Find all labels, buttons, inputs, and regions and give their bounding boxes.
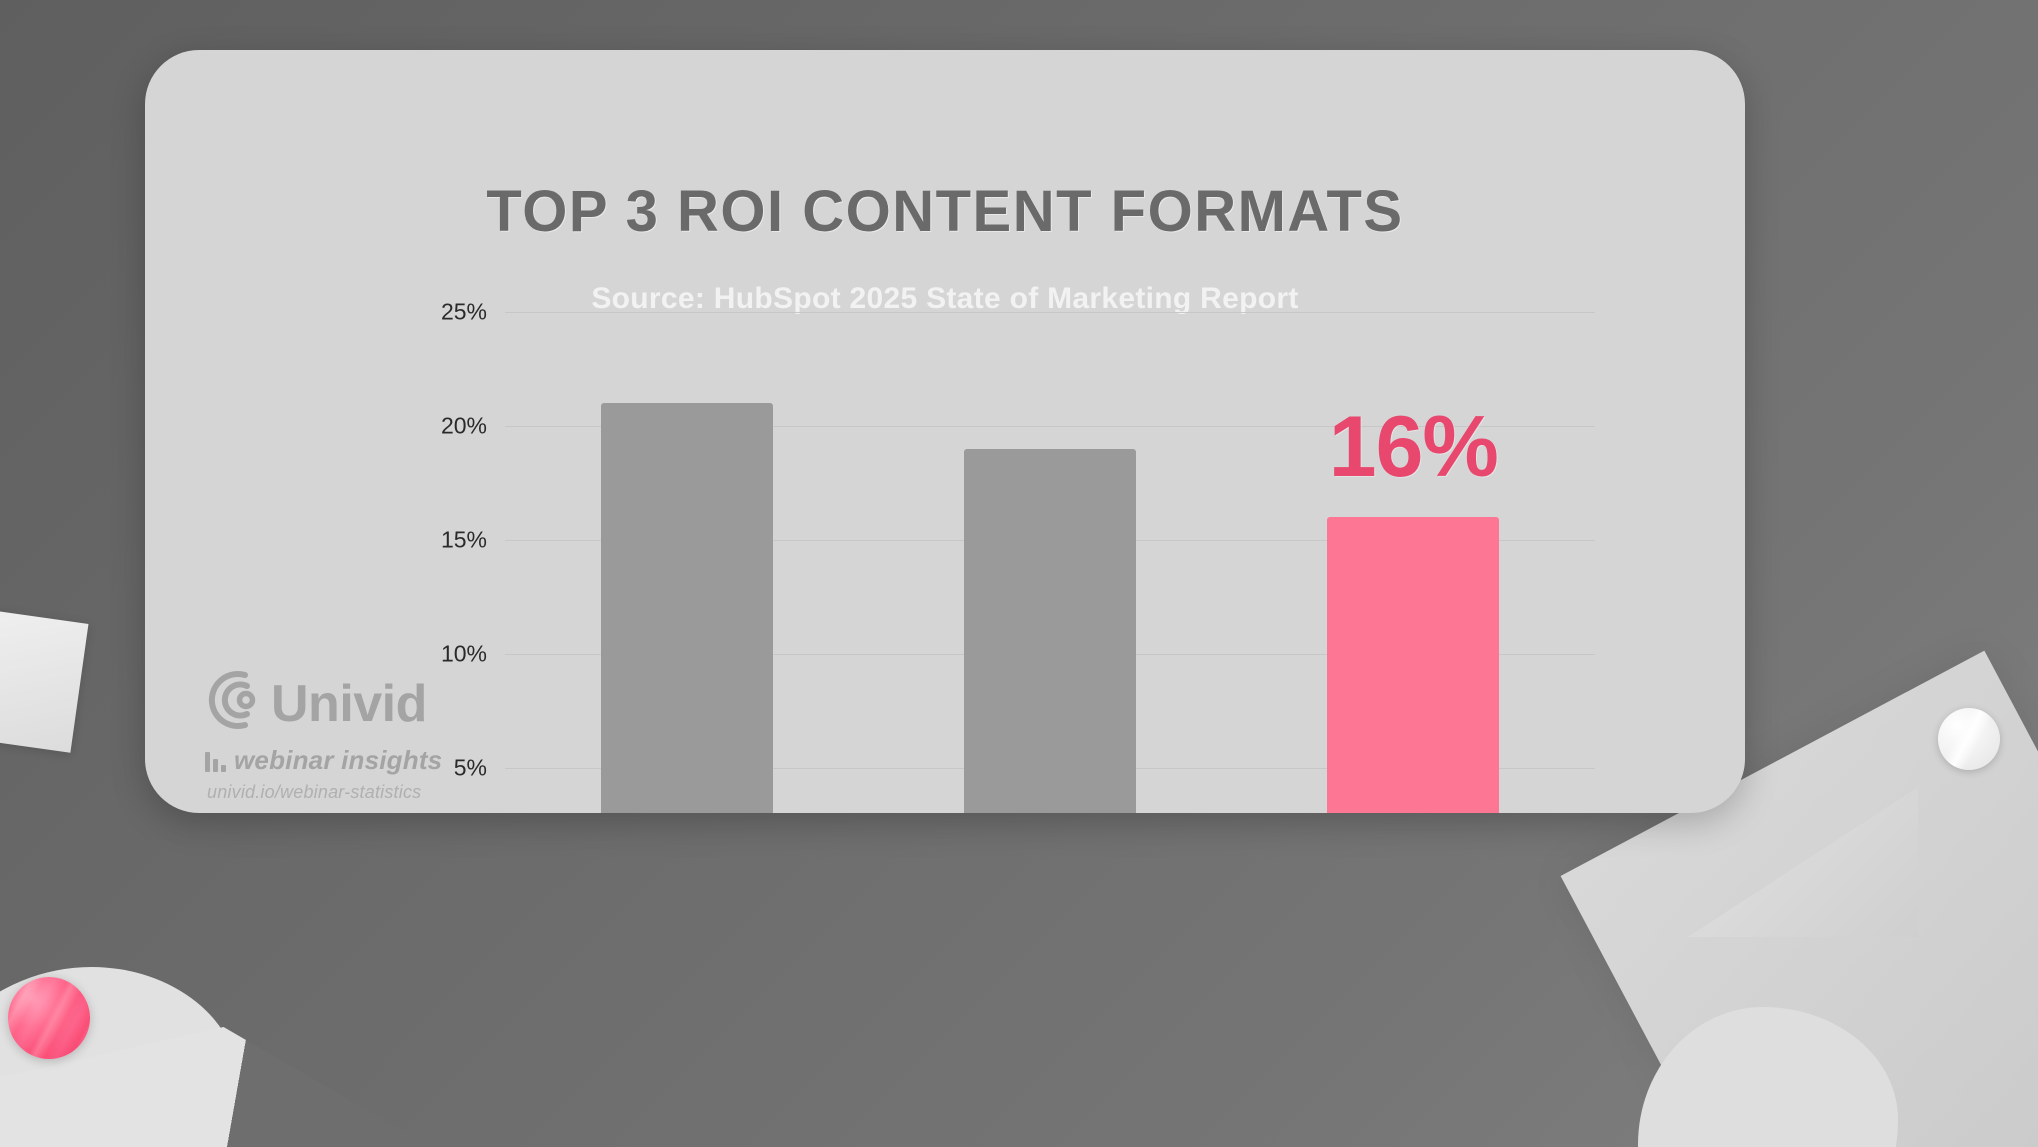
brand-tagline-row: webinar insights [201, 745, 531, 776]
y-axis-tick-label: 25% [441, 299, 487, 326]
brand-name-row: Univid [201, 668, 531, 739]
brand-url: univid.io/webinar-statistics [201, 782, 531, 803]
chart-plot-area: 0%5%10%15%20%25% Short-form videoImages1… [505, 312, 1595, 813]
decorative-white-circle [1938, 708, 2000, 770]
y-axis-tick-label: 15% [441, 527, 487, 554]
page-title: TOP 3 ROI CONTENT FORMATS [145, 178, 1745, 245]
bar[interactable] [964, 449, 1136, 813]
chart-card: TOP 3 ROI CONTENT FORMATS Source: HubSpo… [145, 50, 1745, 813]
y-axis-tick-label: 10% [441, 641, 487, 668]
bar-series: Short-form videoImages16%Live streaming … [505, 312, 1595, 813]
y-axis-tick-label: 20% [441, 413, 487, 440]
bar-value-label: 16% [1329, 398, 1498, 497]
decorative-tilted-card [0, 607, 88, 752]
bar[interactable] [1327, 517, 1499, 813]
bar-group: 16%Live streaming video [1232, 312, 1595, 813]
univid-arcs-icon [201, 668, 267, 737]
bar-chart-glyph-icon [205, 750, 226, 772]
brand-block: Univid webinar insights univid.io/webina… [201, 668, 531, 803]
bar-group: Images [868, 312, 1231, 813]
brand-name: Univid [271, 678, 427, 730]
chart-subtitle: Source: HubSpot 2025 State of Marketing … [145, 282, 1745, 316]
decorative-pink-circle [8, 977, 90, 1059]
bar-group: Short-form video [505, 312, 868, 813]
brand-tagline: webinar insights [234, 745, 442, 776]
bar[interactable] [601, 403, 773, 813]
